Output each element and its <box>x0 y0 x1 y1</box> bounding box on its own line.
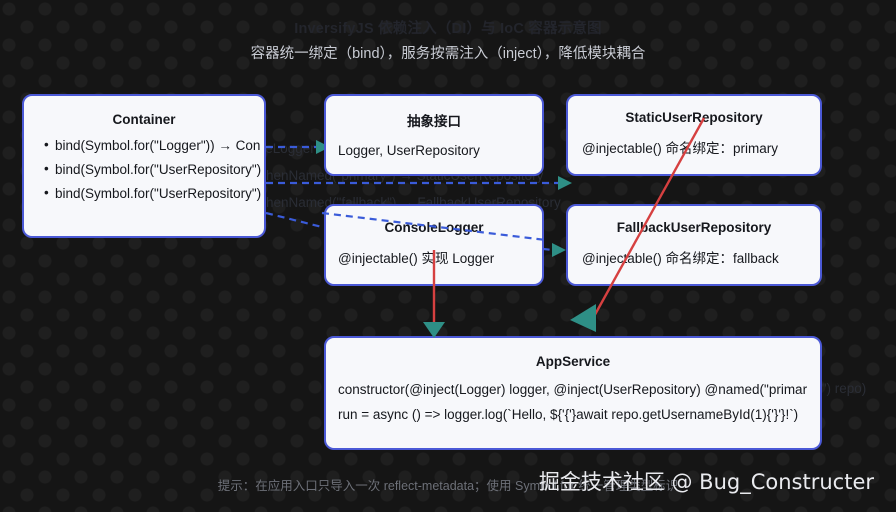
node-abstract-interface[interactable]: 抽象接口 Logger, UserRepository <box>324 94 544 176</box>
node-abstract-interface-body: Logger, UserRepository <box>326 142 542 160</box>
node-fallback-user-repository[interactable]: FallbackUserRepository @injectable() 命名绑… <box>566 204 822 286</box>
node-container-bindings: bind(Symbol.for("Logger")) → Con bind(Sy… <box>24 138 264 201</box>
node-console-logger-body: @injectable() 实现 Logger <box>326 247 542 268</box>
node-console-logger[interactable]: ConsoleLogger @injectable() 实现 Logger <box>324 204 544 286</box>
node-fallback-user-repository-body: @injectable() 命名绑定：fallback <box>568 247 820 268</box>
arrowhead-logger-to-fallback <box>552 243 566 257</box>
node-static-user-repository-title: StaticUserRepository <box>568 110 820 125</box>
node-fallback-user-repository-title: FallbackUserRepository <box>568 220 820 235</box>
appservice-constructor-line: constructor(@inject(Logger) logger, @inj… <box>338 382 820 397</box>
container-binding-2: bind(Symbol.for("UserRepository") <box>44 162 264 177</box>
node-container-title: Container <box>24 112 264 127</box>
node-console-logger-title: ConsoleLogger <box>326 220 542 235</box>
node-static-user-repository[interactable]: StaticUserRepository @injectable() 命名绑定：… <box>566 94 822 176</box>
node-app-service-title: AppService <box>326 354 820 369</box>
node-app-service-body: constructor(@inject(Logger) logger, @inj… <box>326 382 820 422</box>
appservice-run-line: run = async () => logger.log(`Hello, ${'… <box>338 407 820 422</box>
static-repo-body-text: @injectable() 命名绑定：primary <box>582 141 778 156</box>
diagram-canvas: InversifyJS 依赖注入（DI）与 IoC 容器示意图 容器统一绑定（b… <box>0 0 896 512</box>
container-binding-3: bind(Symbol.for("UserRepository") <box>44 186 264 201</box>
console-logger-body-text: @injectable() 实现 Logger <box>338 251 494 266</box>
arrowhead-container-to-static <box>558 176 572 190</box>
container-binding-1: bind(Symbol.for("Logger")) → Con <box>44 138 264 153</box>
fallback-repo-body-text: @injectable() 命名绑定：fallback <box>582 251 779 266</box>
edge-container-to-logger <box>266 213 330 229</box>
node-abstract-interface-title: 抽象接口 <box>326 110 542 130</box>
watermark: 掘金技术社区 @ Bug_Constructer <box>539 466 874 496</box>
node-container[interactable]: Container bind(Symbol.for("Logger")) → C… <box>22 94 266 238</box>
node-static-user-repository-body: @injectable() 命名绑定：primary <box>568 137 820 158</box>
node-app-service[interactable]: AppService constructor(@inject(Logger) l… <box>324 336 822 450</box>
iface-body-text: Logger, UserRepository <box>338 143 480 158</box>
